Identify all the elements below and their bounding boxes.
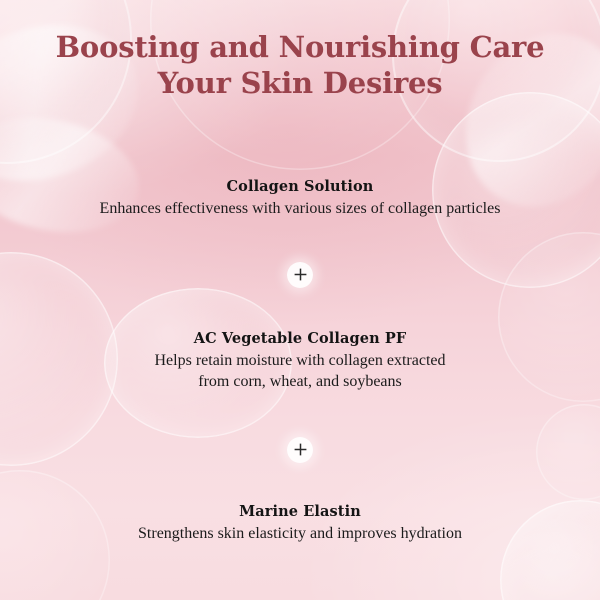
ingredient-description-line: Helps retain moisture with collagen extr… <box>20 350 580 371</box>
poster-content: Boosting and Nourishing Care Your Skin D… <box>0 0 600 600</box>
plus-icon <box>287 262 313 288</box>
ingredient-description-line: Enhances effectiveness with various size… <box>20 198 580 219</box>
ingredient-description: Helps retain moisture with collagen extr… <box>20 350 580 393</box>
ingredient-description: Strengthens skin elasticity and improves… <box>20 523 580 544</box>
headline-line-1: Boosting and Nourishing Care <box>56 30 545 64</box>
separator-1 <box>20 262 580 288</box>
promo-poster: Boosting and Nourishing Care Your Skin D… <box>0 0 600 600</box>
ingredient-title: Collagen Solution <box>20 178 580 195</box>
ingredient-list: Collagen Solution Enhances effectiveness… <box>20 136 580 544</box>
page-title: Boosting and Nourishing Care Your Skin D… <box>30 0 570 101</box>
ingredient-title: AC Vegetable Collagen PF <box>20 330 580 347</box>
ingredient-description-line: Strengthens skin elasticity and improves… <box>20 523 580 544</box>
ingredient-block-collagen-solution: Collagen Solution Enhances effectiveness… <box>20 178 580 219</box>
ingredient-description-line: from corn, wheat, and soybeans <box>20 371 580 392</box>
ingredient-block-marine-elastin: Marine Elastin Strengthens skin elastici… <box>20 503 580 544</box>
separator-2 <box>20 437 580 463</box>
ingredient-description: Enhances effectiveness with various size… <box>20 198 580 219</box>
ingredient-title: Marine Elastin <box>20 503 580 520</box>
headline-line-2: Your Skin Desires <box>30 66 570 102</box>
ingredient-block-ac-vegetable-collagen-pf: AC Vegetable Collagen PF Helps retain mo… <box>20 330 580 393</box>
plus-icon <box>287 437 313 463</box>
